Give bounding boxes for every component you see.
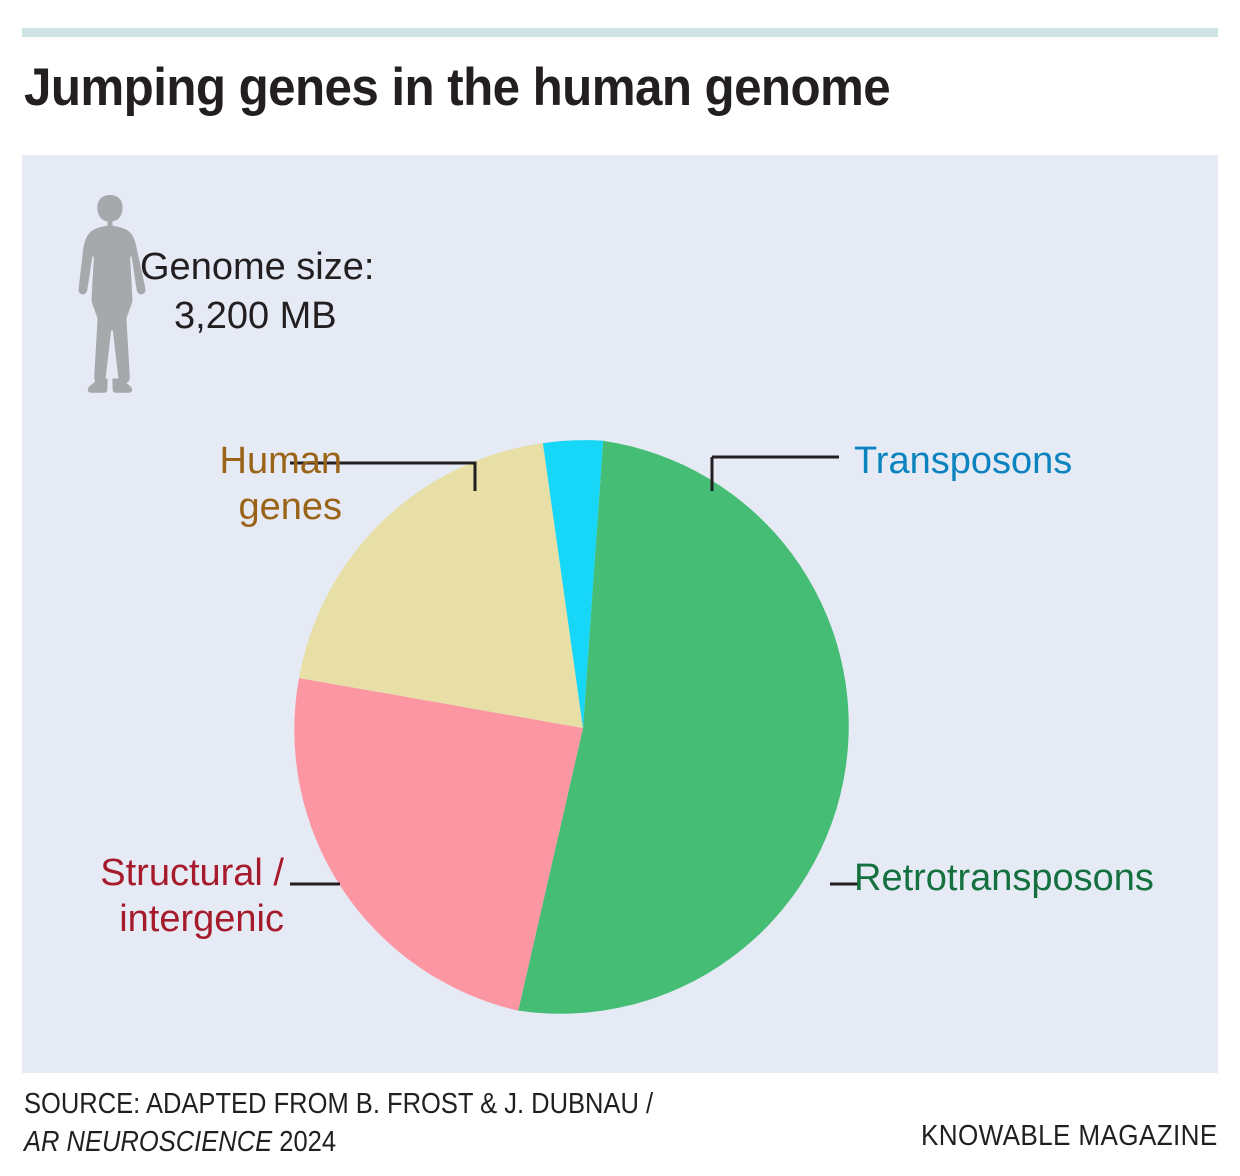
label-retrotransposons: Retrotransposons bbox=[854, 855, 1154, 901]
source-line-1: SOURCE: ADAPTED FROM B. FROST & J. DUBNA… bbox=[24, 1085, 746, 1123]
source-line-2: AR NEUROSCIENCE 2024 bbox=[24, 1123, 746, 1161]
publication-credit: KNOWABLE MAGAZINE bbox=[921, 1120, 1218, 1153]
page-title: Jumping genes in the human genome bbox=[24, 58, 1121, 117]
leader-line-transposons bbox=[712, 457, 839, 491]
chart-panel: Genome size: 3,200 MB bbox=[22, 155, 1218, 1073]
infographic-root: Jumping genes in the human genome Genome… bbox=[0, 0, 1240, 1176]
label-structural-intergenic: Structural / intergenic bbox=[32, 850, 284, 943]
top-rule-divider bbox=[22, 28, 1218, 37]
source-journal: AR NEUROSCIENCE bbox=[24, 1126, 272, 1158]
source-note: SOURCE: ADAPTED FROM B. FROST & J. DUBNA… bbox=[24, 1085, 746, 1162]
label-transposons: Transposons bbox=[854, 438, 1072, 484]
label-human-genes: Human genes bbox=[110, 438, 342, 531]
source-year: 2024 bbox=[272, 1126, 336, 1158]
